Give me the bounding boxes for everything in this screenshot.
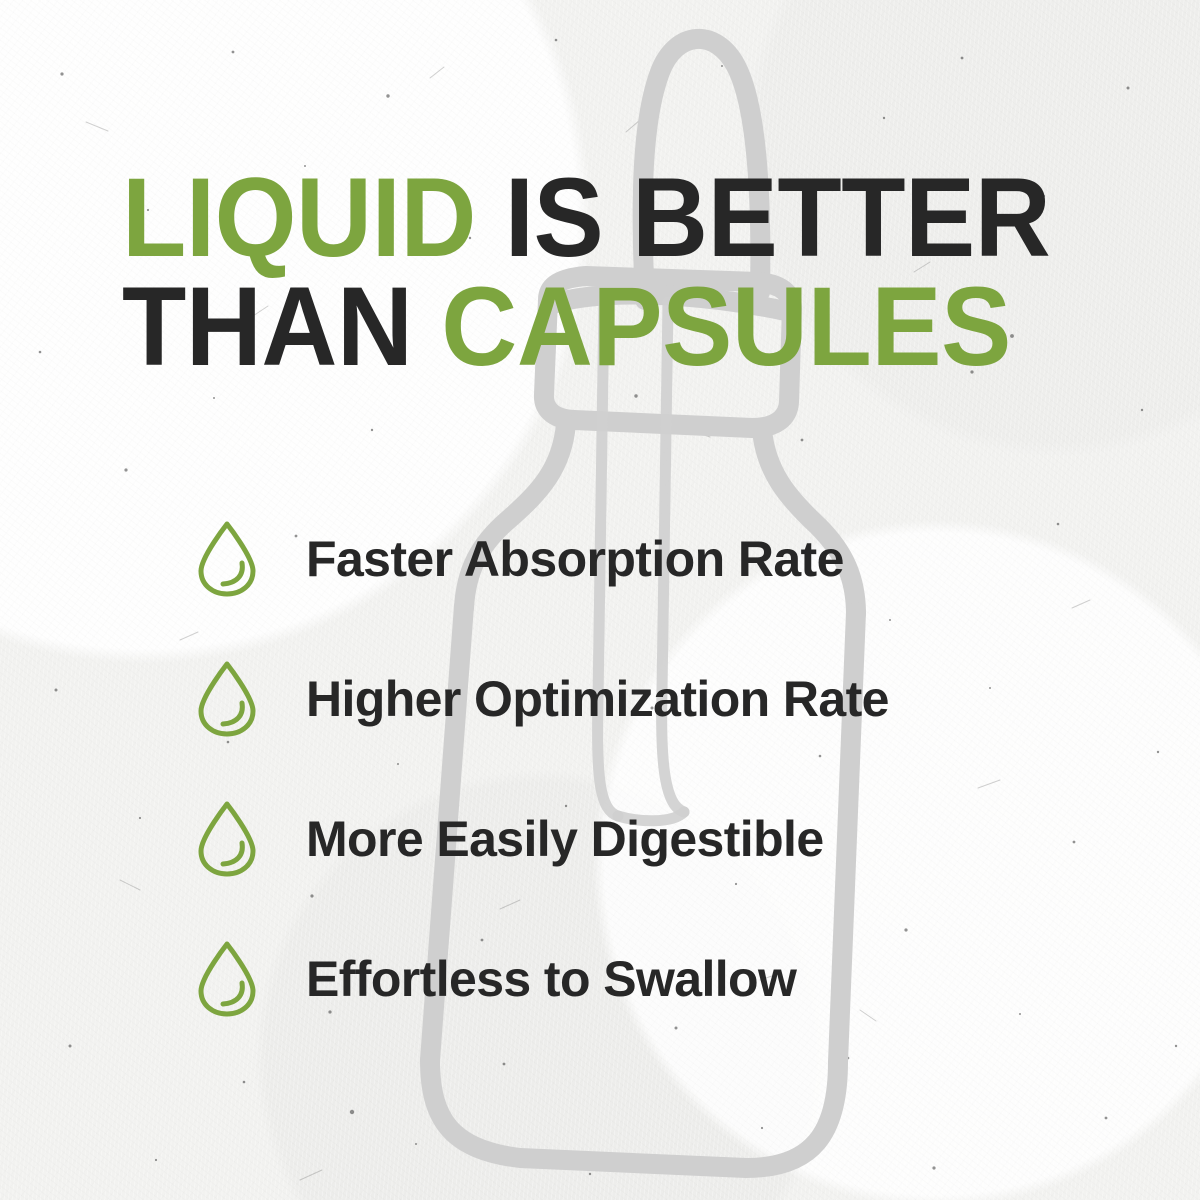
- headline-word-is-better: IS BETTER: [505, 155, 1051, 280]
- benefit-label: Faster Absorption Rate: [306, 534, 844, 584]
- droplet-icon: [190, 935, 264, 1023]
- benefit-label: More Easily Digestible: [306, 814, 824, 864]
- benefit-label: Effortless to Swallow: [306, 954, 796, 1004]
- poster-canvas: LIQUID IS BETTER THAN CAPSULES Faster Ab…: [0, 0, 1200, 1200]
- headline-word-capsules: CAPSULES: [441, 264, 1011, 389]
- droplet-icon: [190, 655, 264, 743]
- poster-content: LIQUID IS BETTER THAN CAPSULES Faster Ab…: [0, 0, 1200, 1200]
- list-item: Faster Absorption Rate: [190, 520, 1150, 598]
- benefits-list: Faster Absorption Rate Higher Optimizati…: [190, 520, 1150, 1018]
- headline-line-1: LIQUID IS BETTER: [122, 168, 1043, 269]
- droplet-icon: [190, 795, 264, 883]
- benefit-label: Higher Optimization Rate: [306, 674, 889, 724]
- headline-line-2: THAN CAPSULES: [122, 277, 1043, 378]
- droplet-icon: [190, 515, 264, 603]
- list-item: More Easily Digestible: [190, 800, 1150, 878]
- headline-word-liquid: LIQUID: [122, 155, 476, 280]
- headline-word-than: THAN: [122, 264, 413, 389]
- page-title: LIQUID IS BETTER THAN CAPSULES: [122, 168, 1102, 378]
- list-item: Higher Optimization Rate: [190, 660, 1150, 738]
- list-item: Effortless to Swallow: [190, 940, 1150, 1018]
